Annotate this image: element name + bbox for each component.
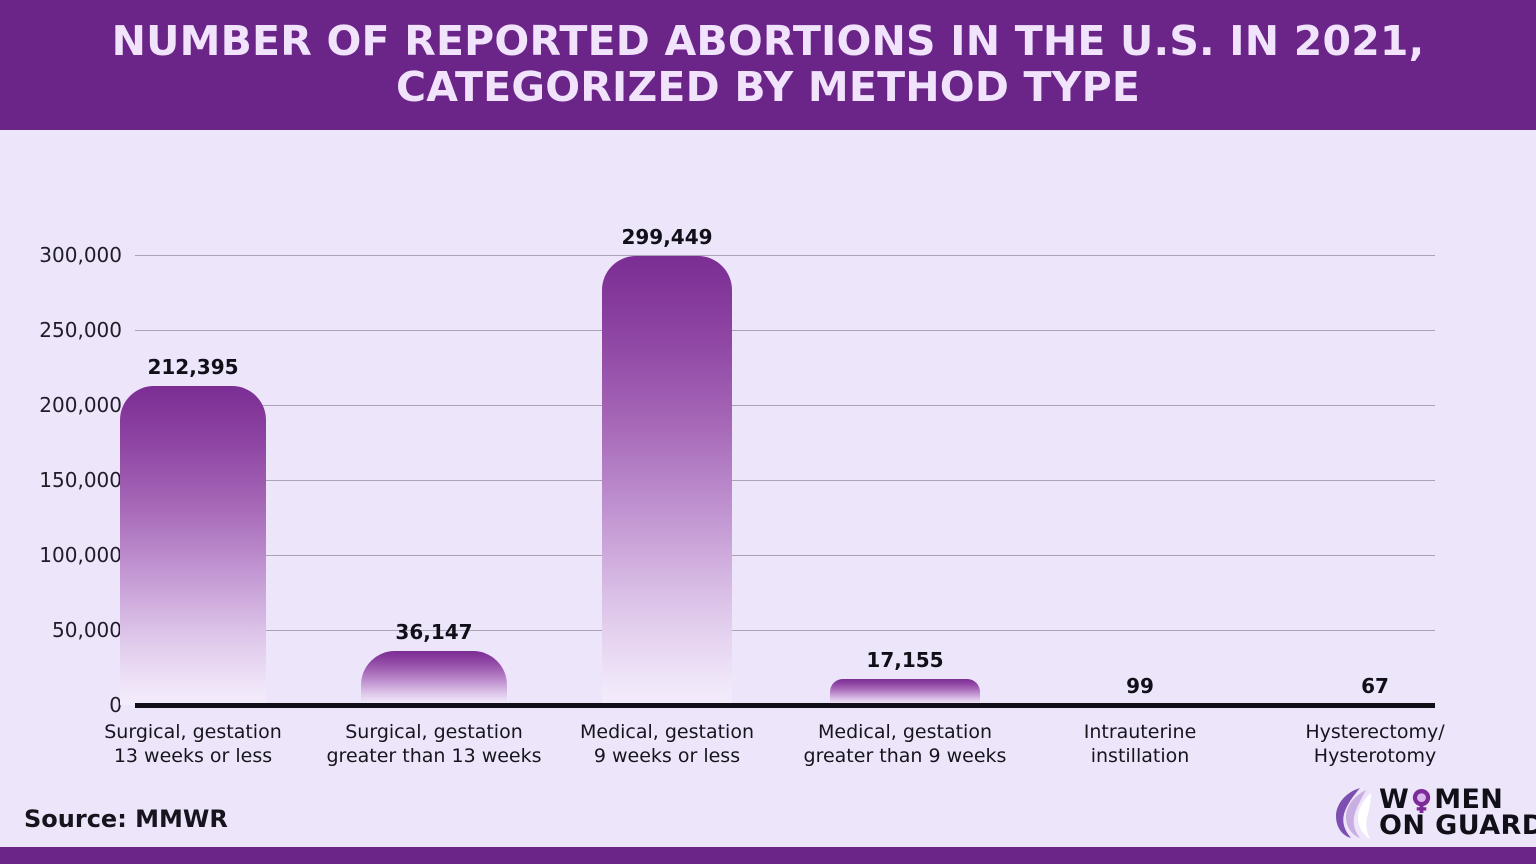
bars-layer: 212,39536,147299,44917,1559967 <box>0 255 1536 705</box>
bar-value-label: 99 <box>1126 674 1154 698</box>
x-axis-line <box>135 703 1435 708</box>
bar-group: 17,155 <box>830 648 980 705</box>
bar-group: 299,449 <box>602 225 732 705</box>
bar[interactable] <box>602 256 732 705</box>
x-axis-category-label: Medical, gestation greater than 9 weeks <box>790 720 1020 769</box>
bar[interactable] <box>120 386 266 705</box>
bar-group: 67 <box>1300 674 1450 705</box>
page-title: NUMBER OF REPORTED ABORTIONS IN THE U.S.… <box>112 19 1425 111</box>
bar-value-label: 36,147 <box>395 620 472 644</box>
bar-value-label: 67 <box>1361 674 1389 698</box>
bar-group: 212,395 <box>120 355 266 705</box>
bar-group: 36,147 <box>361 620 507 705</box>
x-axis-category-label: Surgical, gestation 13 weeks or less <box>80 720 306 769</box>
x-axis-category-labels: Surgical, gestation 13 weeks or lessSurg… <box>0 720 1536 790</box>
logo-wordmark: W MEN ON GUARD <box>1379 787 1536 839</box>
bar-value-label: 299,449 <box>621 225 712 249</box>
bar-value-label: 212,395 <box>147 355 238 379</box>
x-axis-category-label: Intrauterine instillation <box>1025 720 1255 769</box>
x-axis-category-label: Hysterectomy/ Hysterotomy <box>1260 720 1490 769</box>
bar-value-label: 17,155 <box>866 648 943 672</box>
chart-area: 050,000100,000150,000200,000250,000300,0… <box>0 130 1536 847</box>
bar-group: 99 <box>1065 674 1215 705</box>
logo-line-two: ON GUARD <box>1379 813 1536 839</box>
bar[interactable] <box>361 651 507 705</box>
x-axis-category-label: Medical, gestation 9 weeks or less <box>562 720 772 769</box>
woman-profile-icon <box>1330 786 1374 840</box>
source-note: Source: MMWR <box>24 805 228 833</box>
bar[interactable] <box>830 679 980 705</box>
venus-symbol-icon <box>1409 788 1434 813</box>
x-axis-category-label: Surgical, gestation greater than 13 week… <box>321 720 547 769</box>
header-bar: NUMBER OF REPORTED ABORTIONS IN THE U.S.… <box>0 0 1536 130</box>
footer-strip <box>0 847 1536 864</box>
brand-logo[interactable]: W MEN ON GUARD <box>1330 782 1526 844</box>
